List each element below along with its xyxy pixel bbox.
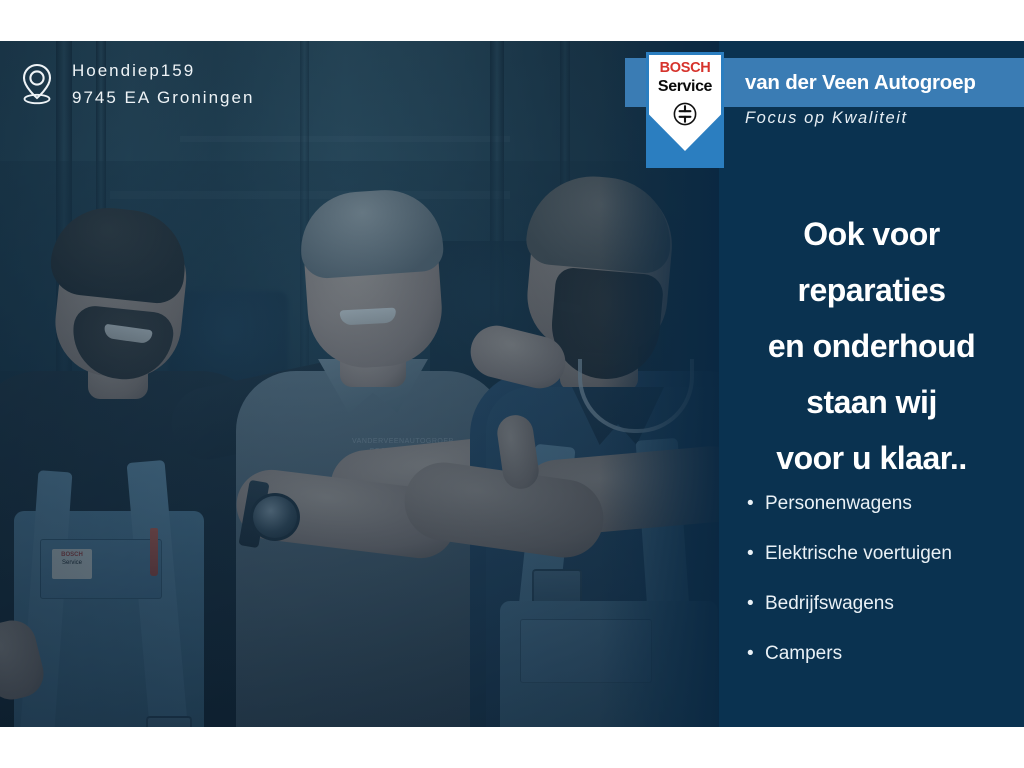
services-list: Personenwagens Elektrische voertuigen Be… <box>747 479 1024 679</box>
company-tagline: Focus op Kwaliteit <box>745 109 1024 128</box>
headline: Ook voor reparaties en onderhoud staan w… <box>719 206 1024 486</box>
logo-service-text: Service <box>646 78 724 96</box>
headline-line: staan wij <box>719 374 1024 430</box>
advertisement-banner: BOSCH Service VANDERVEENAUTOGROEP FOCUS … <box>0 41 1024 727</box>
workshop-team-photo: BOSCH Service VANDERVEENAUTOGROEP FOCUS … <box>0 41 719 727</box>
list-item: Campers <box>747 629 1024 679</box>
headline-line: voor u klaar.. <box>719 430 1024 486</box>
bosch-service-logo: BOSCH Service <box>646 52 724 168</box>
list-item: Bedrijfswagens <box>747 579 1024 629</box>
address-block: Hoendiep159 9745 EA Groningen <box>18 57 254 111</box>
list-item: Elektrische voertuigen <box>747 529 1024 579</box>
bosch-armature-icon <box>673 102 697 126</box>
location-pin-icon <box>18 62 56 106</box>
address-line-2: 9745 EA Groningen <box>72 88 254 107</box>
logo-bosch-text: BOSCH <box>646 60 724 76</box>
headline-line: Ook voor <box>719 206 1024 262</box>
list-item: Personenwagens <box>747 479 1024 529</box>
company-name: van der Veen Autogroep <box>745 58 1024 107</box>
address-line-1: Hoendiep159 <box>72 61 195 80</box>
address-text: Hoendiep159 9745 EA Groningen <box>72 57 254 111</box>
headline-line: en onderhoud <box>719 318 1024 374</box>
info-panel: Ook voor reparaties en onderhoud staan w… <box>719 41 1024 727</box>
headline-line: reparaties <box>719 262 1024 318</box>
